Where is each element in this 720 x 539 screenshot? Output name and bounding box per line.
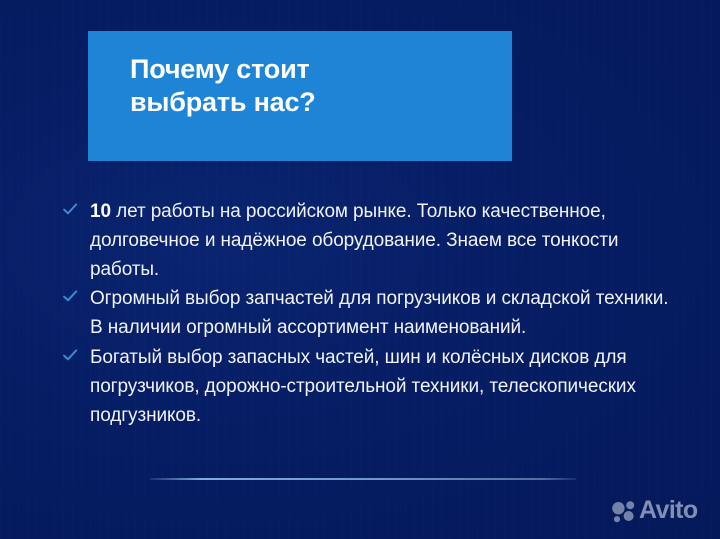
title-banner: Почему стоит выбрать нас? <box>88 31 512 161</box>
list-item-body: лет работы на российском рынке. Только к… <box>90 201 618 280</box>
list-item-lead-number: 10 <box>90 201 111 222</box>
list-item-text: 10 лет работы на российском рынке. Тольк… <box>90 201 618 280</box>
list-item-text: Богатый выбор запасных частей, шин и кол… <box>90 347 636 426</box>
slide-canvas: Почему стоит выбрать нас? 10 лет работы … <box>0 0 720 539</box>
list-item-body: Огромный выбор запчастей для погрузчиков… <box>90 288 668 338</box>
avito-wordmark: Avito <box>639 498 698 523</box>
avito-watermark: Avito <box>611 498 698 523</box>
check-icon <box>62 347 78 363</box>
bullet-list: 10 лет работы на российском рынке. Тольк… <box>60 198 672 431</box>
check-icon <box>62 201 78 217</box>
list-item-text: Огромный выбор запчастей для погрузчиков… <box>90 288 668 338</box>
list-item-body: Богатый выбор запасных частей, шин и кол… <box>90 347 636 426</box>
list-item: Богатый выбор запасных частей, шин и кол… <box>60 344 672 430</box>
page-title-line-1: Почему стоит <box>130 53 512 86</box>
page-title-line-2: выбрать нас? <box>130 86 512 119</box>
avito-dots-logo-icon <box>611 499 637 523</box>
list-item: 10 лет работы на российском рынке. Тольк… <box>60 198 672 284</box>
check-icon <box>62 288 78 304</box>
list-item: Огромный выбор запчастей для погрузчиков… <box>60 285 672 343</box>
divider <box>150 478 576 480</box>
